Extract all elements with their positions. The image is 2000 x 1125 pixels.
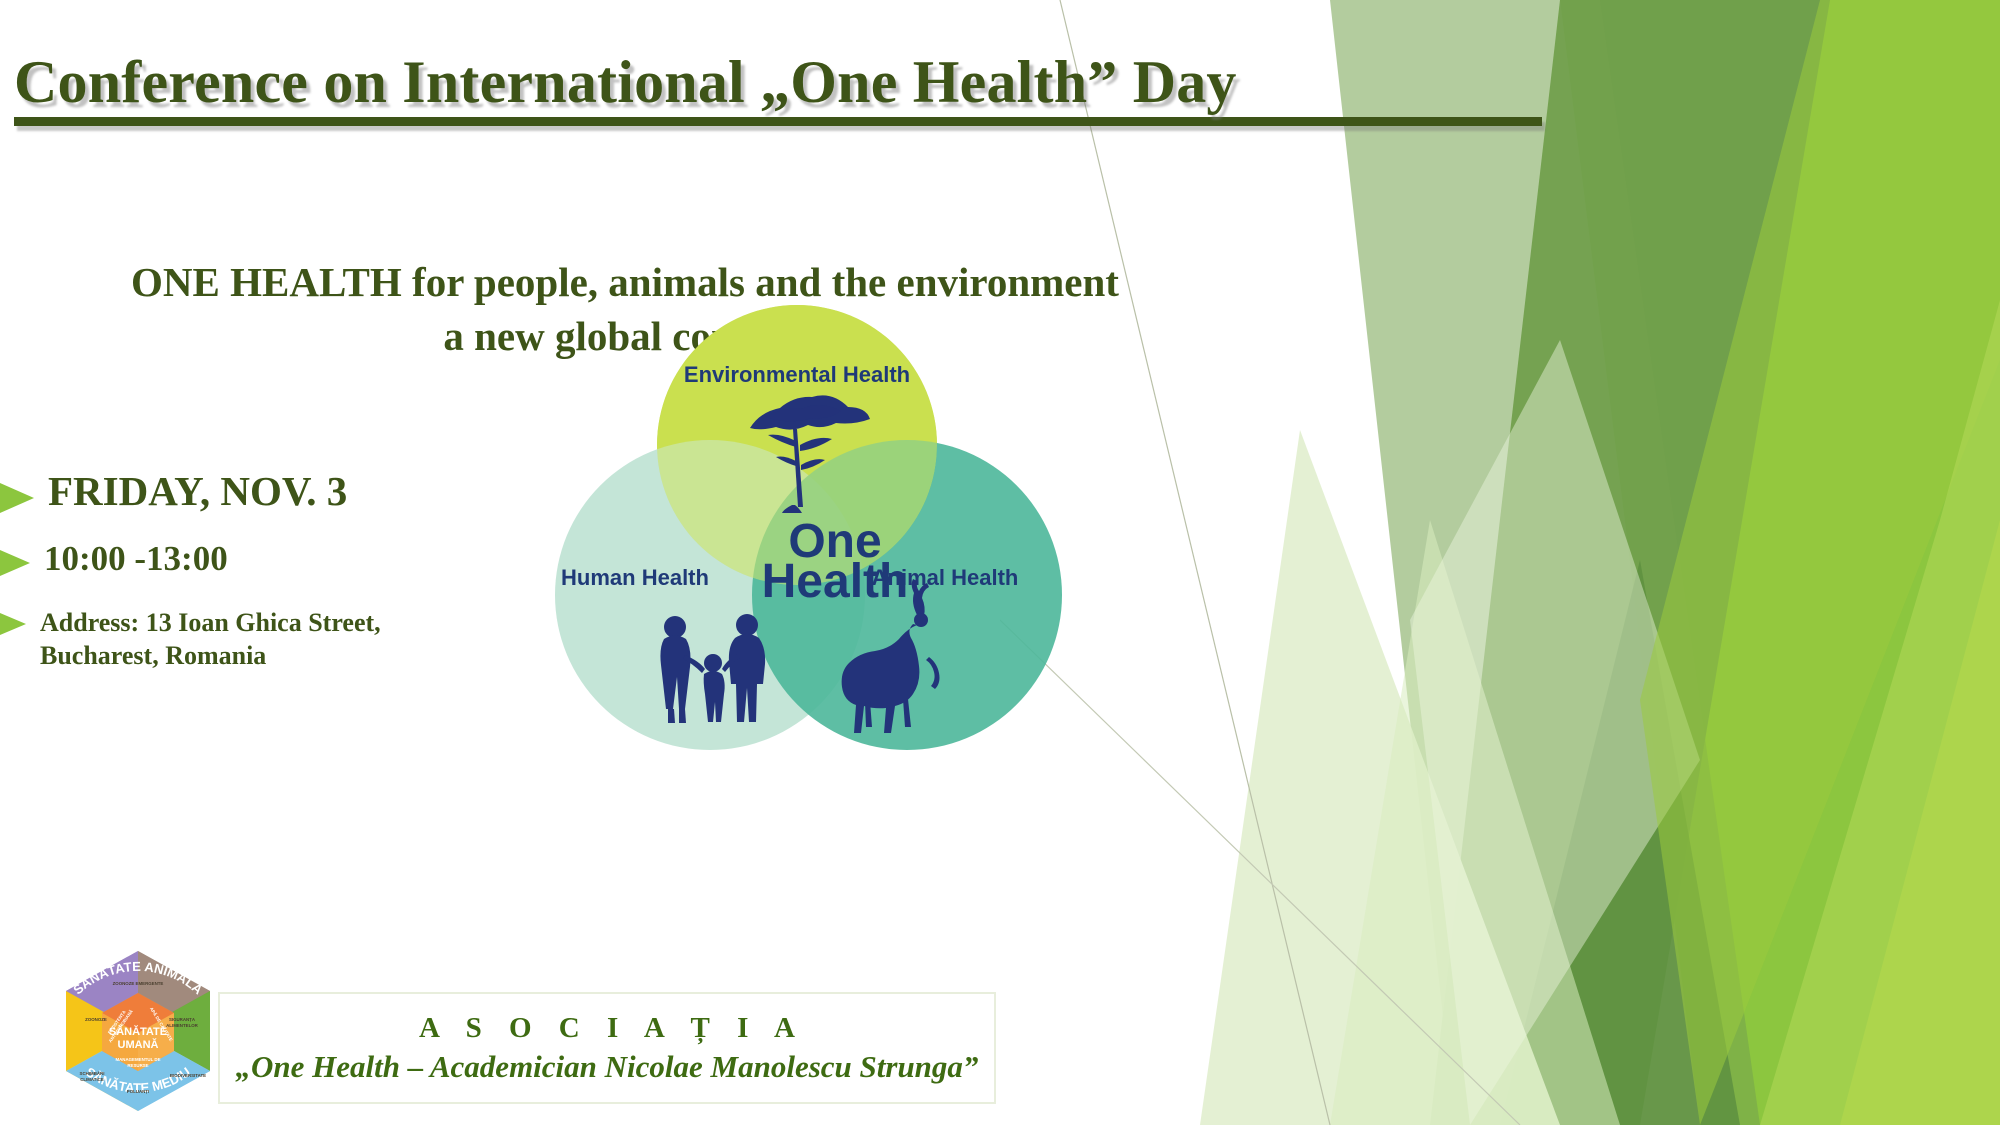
venn-center-line-2: Health: [762, 555, 909, 608]
title-underline-rule: [14, 117, 1542, 126]
logo-caption-5: CLIMATICE: [80, 1077, 104, 1082]
triangle-right-icon: [0, 613, 26, 635]
list-item-date: FRIDAY, NOV. 3: [0, 470, 520, 513]
page-title: Conference on International „One Health”…: [14, 50, 1554, 115]
event-address-line-2: Bucharest, Romania: [40, 641, 266, 670]
logo-caption-9: RESURSE: [127, 1063, 148, 1068]
logo-caption-0: ZOONOZE EMERGENTE: [113, 981, 164, 986]
logo-caption-2: SIGURANȚA: [169, 1017, 196, 1022]
one-health-hexagon-logo: SĂNĂTATE ANIMALĂ SĂNĂTATE MEDIU SĂNĂTATE…: [52, 935, 224, 1125]
event-details-list: FRIDAY, NOV. 3 10:00 -13:00 Address: 13 …: [0, 470, 520, 700]
event-address-line-1: Address: 13 Ioan Ghica Street,: [40, 608, 381, 637]
facet-background-decoration: [1000, 0, 2000, 1125]
subtitle-line-1: ONE HEALTH for people, animals and the e…: [40, 255, 1210, 309]
association-fullname-label: „One Health – Academician Nicolae Manole…: [236, 1048, 979, 1087]
list-item-address: Address: 13 Ioan Ghica Street, Bucharest…: [0, 606, 520, 673]
list-item-time: 10:00 -13:00: [0, 541, 520, 578]
logo-caption-8: MANAGEMENTUL DE: [115, 1057, 160, 1062]
triangle-right-icon: [0, 550, 30, 576]
logo-caption-4: SCHIMBĂRI: [80, 1071, 105, 1076]
logo-label-human-health-2: UMANĂ: [118, 1038, 159, 1051]
logo-caption-6: BIODIVERSITATE: [170, 1073, 206, 1078]
slide-canvas: Conference on International „One Health”…: [0, 0, 2000, 1125]
logo-caption-1: ZOONOZE: [85, 1017, 107, 1022]
association-name-label: A S O C I A Ț I A: [409, 1010, 805, 1046]
slide-title-block: Conference on International „One Health”…: [14, 50, 1554, 126]
event-date-label: FRIDAY, NOV. 3: [48, 470, 347, 513]
one-health-venn-diagram: Environmental Health Human Health Animal…: [525, 305, 1070, 750]
triangle-right-icon: [0, 483, 34, 513]
venn-label-environmental: Environmental Health: [684, 362, 910, 387]
event-address-label: Address: 13 Ioan Ghica Street, Bucharest…: [40, 606, 381, 673]
event-time-label: 10:00 -13:00: [44, 541, 228, 578]
logo-caption-3: ALIMENTELOR: [166, 1023, 199, 1028]
venn-label-human: Human Health: [561, 565, 709, 590]
logo-caption-7: POLUANȚI: [127, 1089, 149, 1094]
association-footer-box: A S O C I A Ț I A „One Health – Academic…: [218, 992, 996, 1104]
